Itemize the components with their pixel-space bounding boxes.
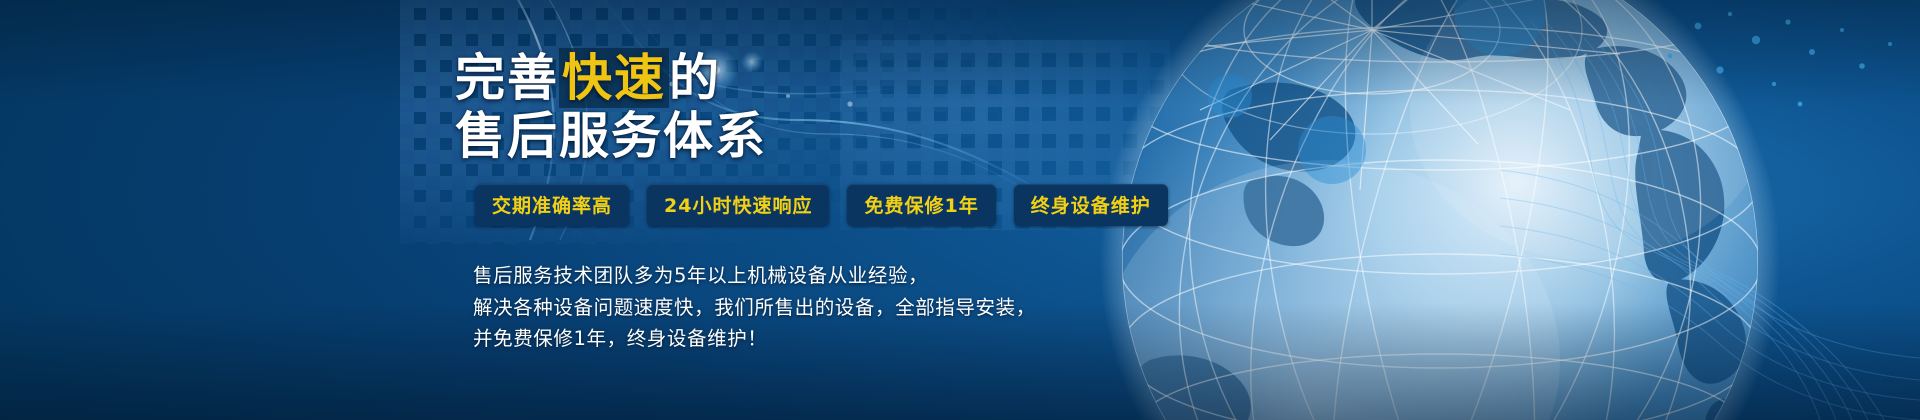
feature-badge[interactable]: 交期准确率高	[475, 184, 629, 226]
feature-badge-list: 交期准确率高 24小时快速响应 免费保修1年 终身设备维护	[475, 184, 1175, 226]
description-paragraph: 售后服务技术团队多为5年以上机械设备从业经验， 解决各种设备问题速度快，我们所售…	[473, 260, 1175, 355]
banner-content: 完善快速的 售后服务体系 交期准确率高 24小时快速响应 免费保修1年 终身设备…	[455, 52, 1175, 355]
service-banner: 完善快速的 售后服务体系 交期准确率高 24小时快速响应 免费保修1年 终身设备…	[0, 0, 1920, 420]
longitude-lines	[1089, 0, 1791, 420]
description-line: 售后服务技术团队多为5年以上机械设备从业经验，	[473, 260, 1175, 292]
headline-line-1: 完善快速的	[455, 52, 1175, 104]
description-line: 解决各种设备问题速度快，我们所售出的设备，全部指导安装，	[473, 292, 1175, 324]
headline-part-3: 的	[669, 49, 721, 107]
page-title: 完善快速的 售后服务体系	[455, 52, 1175, 162]
description-line: 并免费保修1年，终身设备维护！	[473, 323, 1175, 355]
fiber-curve-graphic	[1500, 0, 1920, 420]
polar-fan-lines	[1162, 0, 1620, 190]
continent-shapes	[1135, 0, 1793, 420]
dot-scatter-graphic	[1200, 0, 1920, 220]
headline-part-1: 完善	[455, 49, 559, 107]
feature-badge[interactable]: 终身设备维护	[1014, 184, 1168, 226]
headline-line-2: 售后服务体系	[455, 110, 1175, 162]
latitude-lines	[1119, 0, 1761, 420]
headline-accent: 快速	[559, 48, 669, 108]
feature-badge[interactable]: 免费保修1年	[847, 184, 995, 226]
feature-badge[interactable]: 24小时快速响应	[647, 184, 829, 226]
